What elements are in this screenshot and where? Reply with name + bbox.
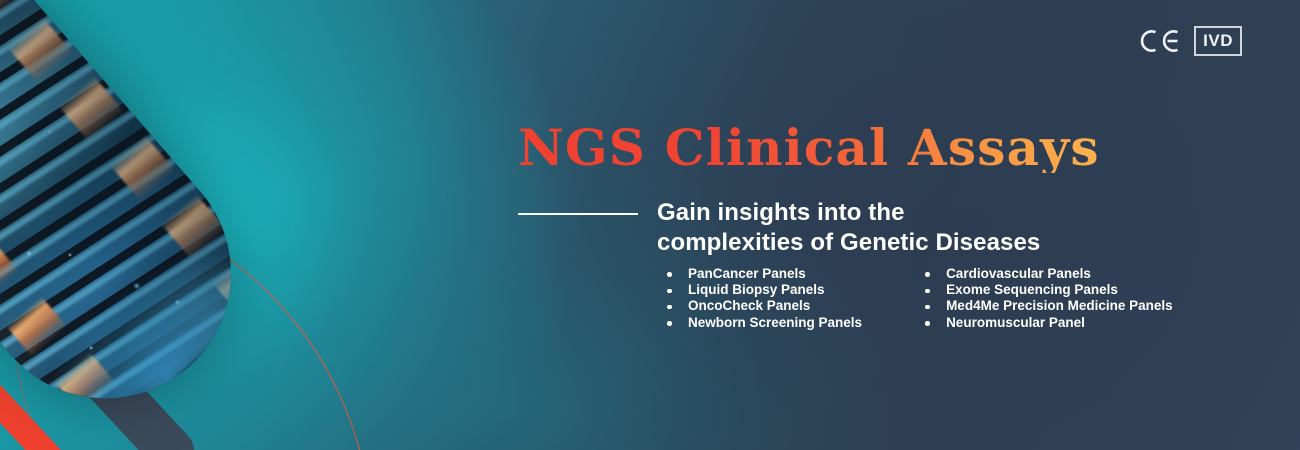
page-subtitle: Gain insights into the complexities of G…	[657, 198, 1040, 258]
list-item[interactable]: Neuromuscular Panel	[918, 315, 1173, 331]
page-subtitle-line-2: complexities of Genetic Diseases	[657, 229, 1040, 256]
dna-capsule-mask	[0, 0, 282, 450]
list-item[interactable]: PanCancer Panels	[660, 266, 862, 282]
banner-content: NGS Clinical Assays Gain insights into t…	[518, 0, 1258, 450]
list-item[interactable]: Cardiovascular Panels	[918, 266, 1173, 282]
dna-sparkles	[0, 0, 282, 450]
list-item[interactable]: Liquid Biopsy Panels	[660, 282, 862, 298]
list-item[interactable]: Med4Me Precision Medicine Panels	[918, 298, 1173, 314]
panel-list-column-2: Cardiovascular Panels Exome Sequencing P…	[918, 266, 1173, 331]
page-subtitle-line-1: Gain insights into the	[657, 199, 905, 226]
panel-list-column-1: PanCancer Panels Liquid Biopsy Panels On…	[660, 266, 862, 331]
ngs-clinical-assays-banner: IVD NGS Clinical Assays Gain insights in…	[0, 0, 1300, 450]
list-item[interactable]: Newborn Screening Panels	[660, 315, 862, 331]
page-title: NGS Clinical Assays	[518, 123, 1100, 173]
list-item[interactable]: Exome Sequencing Panels	[918, 282, 1173, 298]
list-item[interactable]: OncoCheck Panels	[660, 298, 862, 314]
dna-capsule-graphic	[0, 0, 282, 450]
panel-lists: PanCancer Panels Liquid Biopsy Panels On…	[660, 266, 1173, 331]
subheading-row: Gain insights into the complexities of G…	[518, 198, 1040, 258]
accent-rule	[518, 213, 638, 215]
